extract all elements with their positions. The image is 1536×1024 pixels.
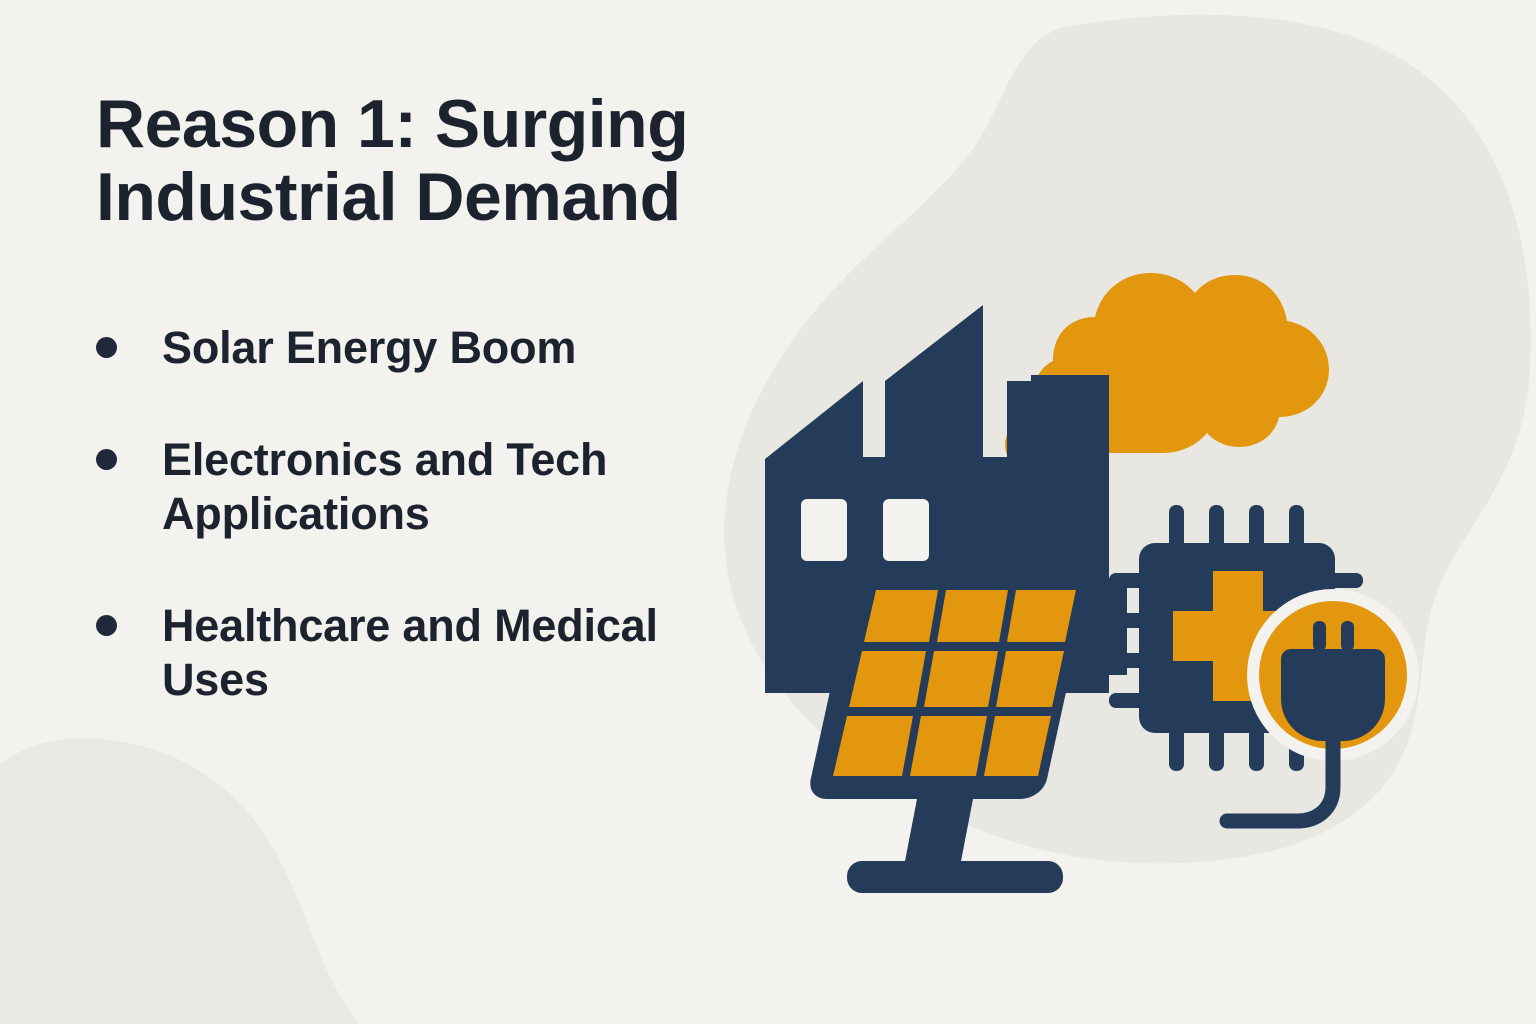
solar-cell [849, 651, 926, 707]
solar-cell [864, 590, 938, 642]
bullet-dot-icon [96, 615, 117, 636]
solar-cell [937, 590, 1008, 642]
page-title: Reason 1: Surging Industrial Demand [96, 88, 716, 235]
factory-window-right [883, 499, 929, 561]
solar-panel-base [847, 861, 1063, 893]
plug-prong-left [1313, 621, 1326, 651]
list-item: Electronics and Tech Applications [96, 433, 716, 541]
list-item: Healthcare and Medical Uses [96, 599, 716, 707]
factory-window-left [801, 499, 847, 561]
background-blob-bottom-left [0, 738, 364, 1024]
solar-cell [1007, 590, 1076, 642]
solar-cell [924, 651, 998, 707]
solar-cell [910, 716, 987, 776]
industrial-demand-illustration [735, 175, 1455, 935]
plug-prong-right [1341, 621, 1354, 651]
slide-root: Reason 1: Surging Industrial Demand Sola… [0, 0, 1536, 1024]
list-item-label: Solar Energy Boom [162, 321, 576, 375]
list-item-label: Electronics and Tech Applications [162, 433, 682, 541]
bullet-dot-icon [96, 337, 117, 358]
bullet-list: Solar Energy Boom Electronics and Tech A… [96, 321, 716, 707]
bullet-dot-icon [96, 449, 117, 470]
solar-cell [833, 716, 913, 776]
text-column: Reason 1: Surging Industrial Demand Sola… [96, 88, 716, 707]
list-item-label: Healthcare and Medical Uses [162, 599, 682, 707]
list-item: Solar Energy Boom [96, 321, 716, 375]
solar-panel-icon [810, 575, 1087, 893]
power-plug-icon [1281, 649, 1385, 741]
